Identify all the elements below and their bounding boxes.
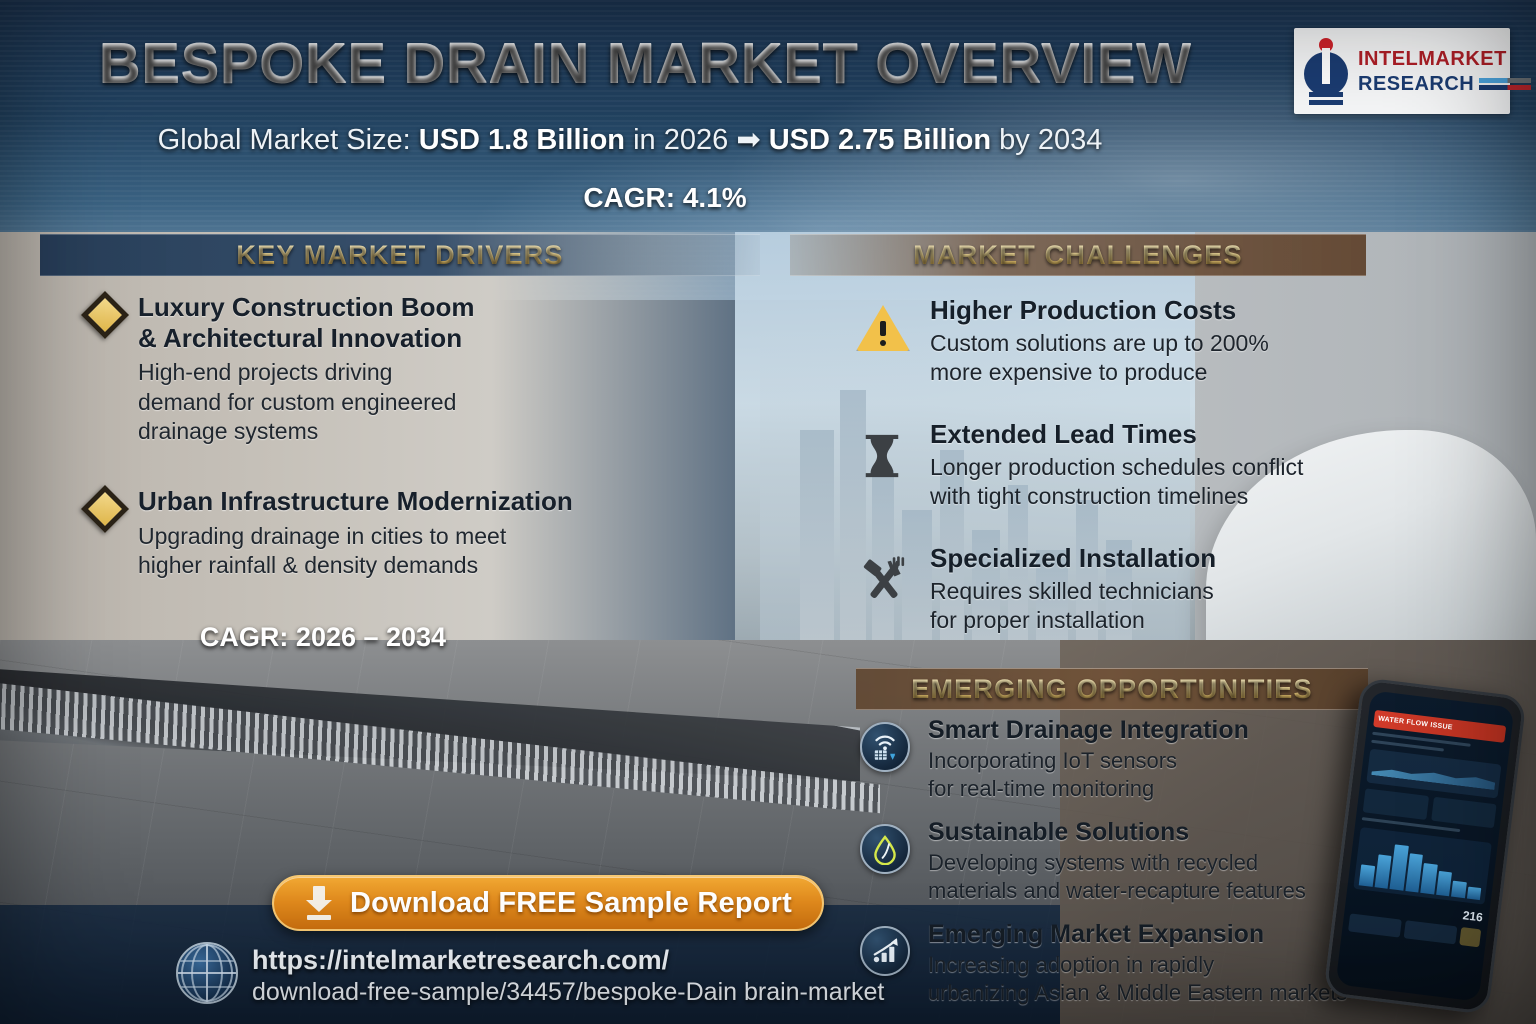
globe-icon — [176, 942, 238, 1004]
opportunity-title: Sustainable Solutions — [928, 818, 1340, 847]
download-sample-report-button[interactable]: Download FREE Sample Report — [272, 875, 824, 931]
opportunity-description: Developing systems with recycled materia… — [928, 849, 1340, 905]
cagr-range-label: CAGR: 2026 – 2034 — [88, 622, 558, 653]
opportunity-item: Sustainable Solutions Developing systems… — [860, 818, 1340, 905]
arrow-icon: ➡ — [736, 124, 760, 156]
drivers-heading: KEY MARKET DRIVERS — [40, 240, 760, 271]
challenge-description: Longer production schedules conflict wit… — [930, 453, 1376, 512]
driver-description: Upgrading drainage in cities to meet hig… — [138, 522, 688, 581]
phone-alert-text: WATER FLOW ISSUE — [1378, 715, 1453, 731]
challenges-section-header: MARKET CHALLENGES — [790, 234, 1366, 276]
challenge-title: Higher Production Costs — [930, 296, 1366, 326]
opportunity-description: Incorporating IoT sensors for real-time … — [928, 747, 1340, 803]
opportunity-description: Increasing adoption in rapidly urbanizin… — [928, 951, 1360, 1007]
water-droplet-icon — [860, 824, 910, 874]
market-size-from: USD 1.8 Billion — [419, 124, 625, 156]
subtitle-mid: in 2026 — [633, 124, 728, 156]
opportunity-item: Emerging Market Expansion Increasing ado… — [860, 920, 1360, 1007]
challenge-description: Requires skilled technicians for proper … — [930, 577, 1356, 636]
cagr-range: 2026 – 2034 — [296, 622, 446, 652]
logo-line1: INTELMARKET — [1358, 49, 1531, 69]
report-url[interactable]: https://intelmarketresearch.com/ downloa… — [252, 944, 932, 1007]
opportunities-section-header: EMERGING OPPORTUNITIES — [856, 668, 1368, 710]
download-arrow-icon — [304, 886, 334, 920]
page-title: BESPOKE DRAIN MARKET OVERVIEW — [99, 30, 1241, 96]
phone-alert-banner: WATER FLOW ISSUE — [1373, 710, 1506, 743]
cta-label: Download FREE Sample Report — [350, 887, 792, 920]
market-size-subtitle: Global Market Size: USD 1.8 Billion in 2… — [0, 122, 1260, 157]
logo-line2: RESEARCH — [1358, 74, 1474, 94]
driver-title: Luxury Construction Boom & Architectural… — [138, 292, 648, 353]
opportunity-title: Smart Drainage Integration — [928, 716, 1340, 745]
opportunity-item: Smart Drainage Integration Incorporating… — [860, 716, 1340, 803]
gold-diamond-bullet-icon — [81, 485, 129, 533]
phone-screen: WATER FLOW ISSUE 216 — [1336, 690, 1515, 1001]
logo-bars-icon — [1479, 78, 1531, 90]
subtitle-prefix: Global Market Size: — [158, 124, 411, 156]
challenge-title: Extended Lead Times — [930, 420, 1376, 450]
cagr-headline: CAGR: 4.1% — [0, 182, 1330, 214]
phone-bar-chart — [1353, 827, 1492, 905]
drivers-section-header: KEY MARKET DRIVERS — [40, 234, 760, 276]
url-line-2: download-free-sample/34457/bespoke-Dain … — [252, 977, 932, 1008]
hourglass-icon — [856, 428, 912, 484]
challenge-item: Higher Production Costs Custom solutions… — [856, 296, 1366, 388]
driver-description: High-end projects driving demand for cus… — [138, 358, 648, 446]
warning-triangle-icon — [856, 304, 912, 360]
opportunity-title: Emerging Market Expansion — [928, 920, 1360, 949]
driver-item: Urban Infrastructure Modernization Upgra… — [88, 486, 688, 581]
url-line-1: https://intelmarketresearch.com/ — [252, 944, 932, 977]
challenge-item: Extended Lead Times Longer production sc… — [856, 420, 1376, 512]
driver-item: Luxury Construction Boom & Architectural… — [88, 292, 648, 447]
crossed-tools-icon — [856, 552, 912, 608]
infographic-page: BESPOKE DRAIN MARKET OVERVIEW INTELMARKE… — [0, 0, 1536, 1024]
subtitle-suffix: by 2034 — [999, 124, 1102, 156]
challenge-item: Specialized Installation Requires skille… — [856, 544, 1356, 636]
company-logo: INTELMARKET RESEARCH — [1294, 28, 1510, 114]
gold-diamond-bullet-icon — [81, 291, 129, 339]
challenges-heading: MARKET CHALLENGES — [790, 240, 1366, 271]
cagr-label: CAGR: — [200, 622, 289, 652]
driver-title: Urban Infrastructure Modernization — [138, 486, 688, 517]
challenge-description: Custom solutions are up to 200% more exp… — [930, 329, 1366, 388]
logo-mark-icon — [1300, 36, 1352, 106]
market-size-to: USD 2.75 Billion — [769, 124, 991, 156]
opportunities-heading: EMERGING OPPORTUNITIES — [856, 674, 1368, 705]
challenge-title: Specialized Installation — [930, 544, 1356, 574]
wifi-sensor-icon — [860, 722, 910, 772]
